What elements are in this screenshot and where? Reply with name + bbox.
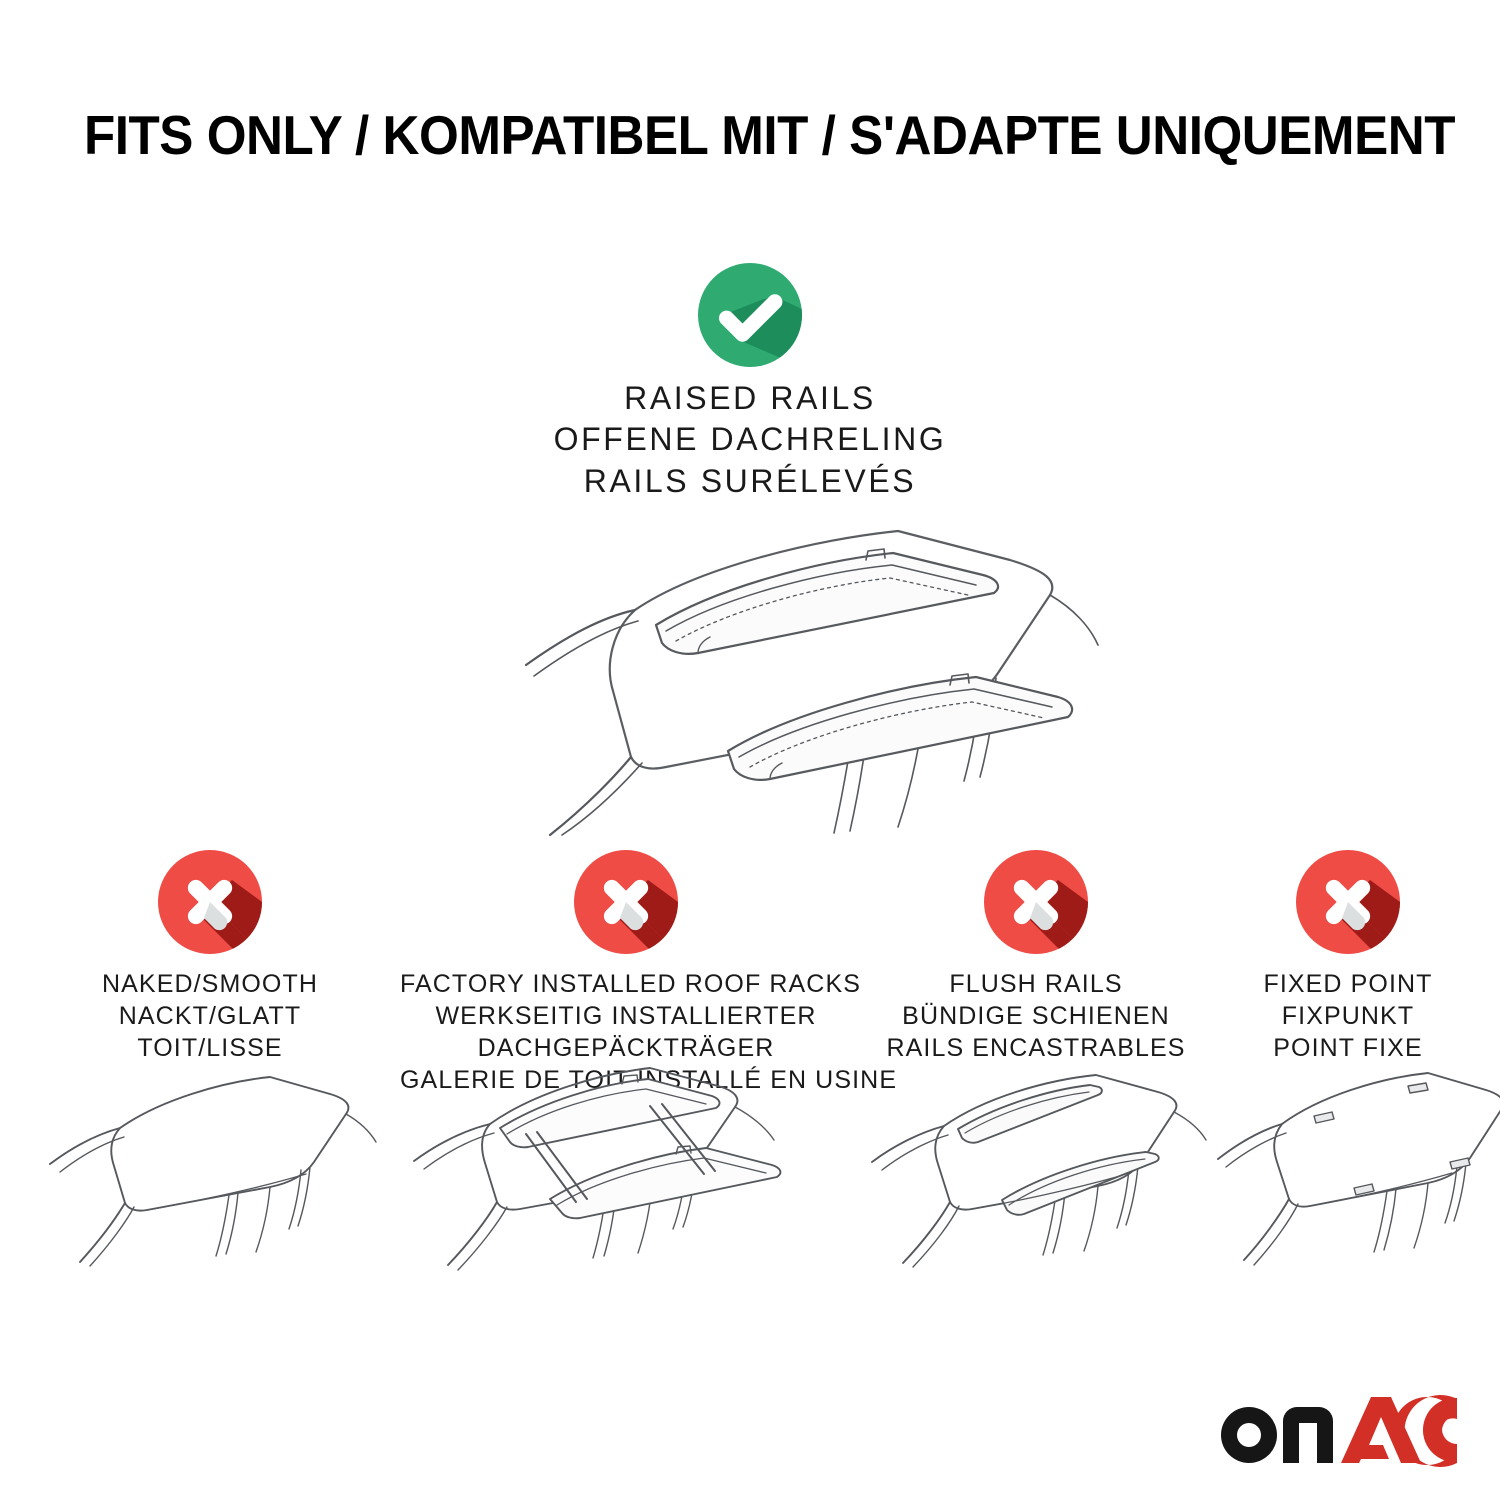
x-circle-icon bbox=[158, 850, 262, 954]
car-roof-with-flush-rails-illustration bbox=[862, 1062, 1210, 1292]
option-label-line-3: TOIT/LISSE bbox=[42, 1032, 378, 1064]
option-label-line-2: WERKSEITIG INSTALLIERTER bbox=[400, 1000, 852, 1032]
option-label-line-3: DACHGEPÄCKTRÄGER bbox=[400, 1032, 852, 1064]
x-mark-glyph bbox=[1296, 850, 1400, 954]
option-label: NAKED/SMOOTH NACKT/GLATT TOIT/LISSE bbox=[42, 968, 378, 1064]
check-circle-icon bbox=[698, 263, 802, 367]
option-label-line-1: FACTORY INSTALLED ROOF RACKS bbox=[400, 968, 852, 1000]
option-label-line-2: BÜNDIGE SCHIENEN bbox=[862, 1000, 1210, 1032]
logo-letter-m bbox=[1283, 1407, 1333, 1463]
option-label-line-1: NAKED/SMOOTH bbox=[42, 968, 378, 1000]
x-mark-glyph bbox=[984, 850, 1088, 954]
option-label: FLUSH RAILS BÜNDIGE SCHIENEN RAILS ENCAS… bbox=[862, 968, 1210, 1064]
x-circle-icon bbox=[574, 850, 678, 954]
approved-label: RAISED RAILS OFFENE DACHRELING RAILS SUR… bbox=[400, 378, 1100, 502]
car-roof-with-fixed-points-illustration bbox=[1218, 1062, 1478, 1292]
x-circle-icon bbox=[984, 850, 1088, 954]
option-label-line-1: FIXED POINT bbox=[1218, 968, 1478, 1000]
option-label-line-3: POINT FIXE bbox=[1218, 1032, 1478, 1064]
option-label-line-1: FLUSH RAILS bbox=[862, 968, 1210, 1000]
check-mark-glyph bbox=[698, 263, 802, 367]
x-mark-glyph bbox=[574, 850, 678, 954]
car-roof-with-factory-crossbars-illustration bbox=[400, 1062, 852, 1292]
approved-label-line-2: OFFENE DACHRELING bbox=[400, 419, 1100, 460]
option-label-line-2: FIXPUNKT bbox=[1218, 1000, 1478, 1032]
approved-label-line-3: RAILS SURÉLEVÉS bbox=[400, 461, 1100, 502]
omac-logo bbox=[1213, 1393, 1457, 1465]
car-roof-bare-illustration bbox=[42, 1062, 378, 1292]
x-mark-glyph bbox=[158, 850, 262, 954]
option-label-line-3: RAILS ENCASTRABLES bbox=[862, 1032, 1210, 1064]
option-label-line-2: NACKT/GLATT bbox=[42, 1000, 378, 1032]
car-roof-with-raised-rails-illustration bbox=[398, 505, 1108, 835]
page-title: FITS ONLY / KOMPATIBEL MIT / S'ADAPTE UN… bbox=[84, 108, 1330, 163]
option-label: FIXED POINT FIXPUNKT POINT FIXE bbox=[1218, 968, 1478, 1064]
logo-letter-o bbox=[1221, 1407, 1277, 1463]
x-circle-icon bbox=[1296, 850, 1400, 954]
approved-label-line-1: RAISED RAILS bbox=[400, 378, 1100, 419]
